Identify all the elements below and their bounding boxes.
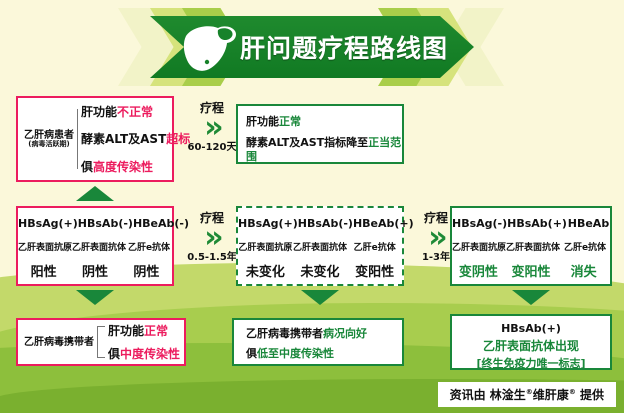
markers1-box: HBsAg(+) HBsAb(-) HBeAb(-) 乙肝表面抗原 乙肝表面抗体… xyxy=(16,206,174,286)
markers3-names: 乙肝表面抗原 乙肝表面抗体 乙肝e抗体 xyxy=(452,240,610,253)
markers2-box: HBsAg(+) HBsAb(-) HBeAb(+) 乙肝表面抗原 乙肝表面抗体… xyxy=(236,206,404,286)
outcome2-line-2: 俱低至中度传染性 xyxy=(246,347,402,361)
stage1-item-0: 肝功能不正常 xyxy=(81,103,190,120)
markers1-codes: HBsAg(+) HBsAb(-) HBeAb(-) xyxy=(18,217,172,230)
arrow-markers1-to-markers2: 疗程 » 0.5-1.5年 xyxy=(184,212,240,263)
markers2-name-2: 乙肝e抗体 xyxy=(347,240,402,253)
markers2-names: 乙肝表面抗原 乙肝表面抗体 乙肝e抗体 xyxy=(238,240,402,253)
connector-triangle-down-mid xyxy=(301,290,339,305)
stage1-item-2: 俱高度传染性 xyxy=(81,158,190,175)
outcome3-code: HBsAb(+) xyxy=(456,322,606,335)
markers2-code-2: HBeAb(+) xyxy=(353,217,414,230)
outcome2-line-1: 乙肝病毒携带者病况向好 xyxy=(246,327,402,341)
markers3-codes: HBsAg(-) HBsAb(+) HBeAb xyxy=(452,217,610,230)
stage1-item-1: 酵素ALT及AST超标 xyxy=(81,130,190,147)
markers1-value-0: 阳性 xyxy=(18,261,69,280)
markers3-box: HBsAg(-) HBsAb(+) HBeAb 乙肝表面抗原 乙肝表面抗体 乙肝… xyxy=(450,206,612,286)
stage1-patient-label: 乙肝病患者 (病毒活跃期) xyxy=(24,130,74,149)
footer-credit: 资讯由 林淦生®维肝康® 提供 xyxy=(438,382,616,407)
markers1-name-0: 乙肝表面抗原 xyxy=(18,240,72,253)
markers3-code-1: HBsAb(+) xyxy=(507,217,567,230)
markers2-code-0: HBsAg(+) xyxy=(238,217,298,230)
footer-brand: 维肝康 xyxy=(533,388,569,402)
outcome1-carrier-label: 乙肝病毒携带者 xyxy=(24,337,94,348)
markers2-value-2: 变阳性 xyxy=(347,261,402,280)
outcome2-box: 乙肝病毒携带者病况向好 俱低至中度传染性 xyxy=(232,318,404,366)
outcome1-item-1: 俱中度传染性 xyxy=(108,345,180,362)
arrow-stage1-to-stage2: 疗程 » 60-120天 xyxy=(184,102,240,153)
connector-triangle-down-right xyxy=(512,290,550,305)
title-banner: 肝问题疗程路线图 xyxy=(0,8,624,86)
infographic-root: 肝问题疗程路线图 乙肝病患者 (病毒活跃期) 肝功能不正常 酵素ALT及AST超… xyxy=(0,0,624,413)
outcome1-item-0: 肝功能正常 xyxy=(108,322,180,339)
markers1-name-1: 乙肝表面抗体 xyxy=(72,240,126,253)
markers1-code-2: HBeAb(-) xyxy=(133,217,189,230)
arrow1-chevron-icon: » xyxy=(184,114,240,143)
markers1-name-2: 乙肝e抗体 xyxy=(126,240,172,253)
markers2-codes: HBsAg(+) HBsAb(-) HBeAb(+) xyxy=(238,217,402,230)
connector-triangle-down-left xyxy=(76,290,114,305)
outcome3-line-2: 乙肝表面抗体出现 xyxy=(456,337,606,354)
markers1-value-2: 阴性 xyxy=(121,261,172,280)
markers2-value-0: 未变化 xyxy=(238,261,293,280)
markers2-values: 未变化 未变化 变阳性 xyxy=(238,261,402,280)
markers3-value-0: 变阴性 xyxy=(452,261,505,280)
markers1-names: 乙肝表面抗原 乙肝表面抗体 乙肝e抗体 xyxy=(18,240,172,253)
outcome3-line-3: [终生免疫力唯一标志] xyxy=(456,355,606,371)
footer-prefix: 资讯由 林淦生 xyxy=(450,388,526,402)
connector-triangle-up-left xyxy=(76,186,114,201)
footer-mark-2: ® xyxy=(569,388,576,396)
markers3-value-2: 消失 xyxy=(557,261,610,280)
footer-mark-1: ® xyxy=(526,388,533,396)
arrow2-duration: 0.5-1.5年 xyxy=(184,253,240,263)
markers2-name-1: 乙肝表面抗体 xyxy=(293,240,348,253)
markers2-name-0: 乙肝表面抗原 xyxy=(238,240,293,253)
outcome3-box: HBsAb(+) 乙肝表面抗体出现 [终生免疫力唯一标志] xyxy=(450,314,612,370)
outcome1-box: 乙肝病毒携带者 肝功能正常 俱中度传染性 xyxy=(16,318,186,366)
markers3-value-1: 变阳性 xyxy=(505,261,558,280)
markers3-name-0: 乙肝表面抗原 xyxy=(452,240,506,253)
markers1-values: 阳性 阴性 阴性 xyxy=(18,261,172,280)
markers1-code-1: HBsAb(-) xyxy=(78,217,133,230)
banner-title: 肝问题疗程路线图 xyxy=(150,16,474,78)
arrow1-duration: 60-120天 xyxy=(184,143,240,153)
stage2-line-1: 酵素ALT及AST指标降至正当范围 xyxy=(246,136,402,164)
markers1-code-0: HBsAg(+) xyxy=(18,217,78,230)
stage2-box: 肝功能正常 酵素ALT及AST指标降至正当范围 xyxy=(236,104,404,164)
markers3-code-2: HBeAb xyxy=(567,217,610,230)
markers3-code-0: HBsAg(-) xyxy=(452,217,507,230)
markers3-name-2: 乙肝e抗体 xyxy=(560,240,610,253)
stage2-line-0: 肝功能正常 xyxy=(246,115,402,129)
markers2-code-1: HBsAb(-) xyxy=(298,217,353,230)
markers2-value-1: 未变化 xyxy=(293,261,348,280)
footer-suffix: 提供 xyxy=(576,388,604,402)
markers1-value-1: 阴性 xyxy=(69,261,120,280)
arrow2-chevron-icon: » xyxy=(184,224,240,253)
markers3-name-1: 乙肝表面抗体 xyxy=(506,240,560,253)
markers3-values: 变阴性 变阳性 消失 xyxy=(452,261,610,280)
stage1-box: 乙肝病患者 (病毒活跃期) 肝功能不正常 酵素ALT及AST超标 俱高度传染性 xyxy=(16,96,174,182)
